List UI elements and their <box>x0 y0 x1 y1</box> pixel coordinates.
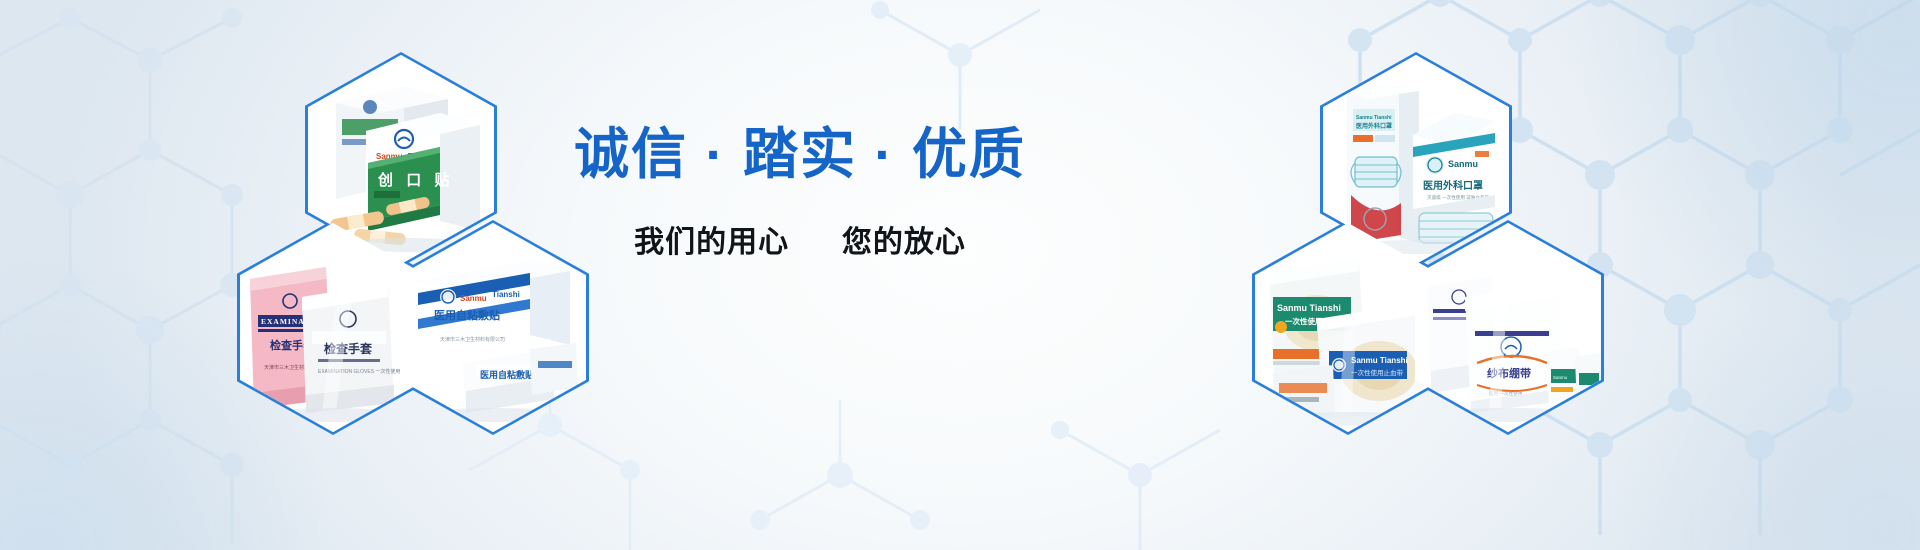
svg-text:医用外科口罩: 医用外科口罩 <box>1356 122 1392 130</box>
banner-headline: 诚信 · 踏实 · 优质 <box>560 122 1040 187</box>
svg-text:天津市三木卫生材料有限公司: 天津市三木卫生材料有限公司 <box>440 336 505 343</box>
svg-text:Sanmu: Sanmu <box>460 294 487 303</box>
svg-text:医用外科口罩: 医用外科口罩 <box>1423 179 1483 192</box>
svg-text:Sanmu Tianshi: Sanmu Tianshi <box>1356 115 1392 121</box>
svg-text:一次性使用止血带: 一次性使用止血带 <box>1351 368 1404 377</box>
svg-text:Sanmu: Sanmu <box>1553 375 1568 380</box>
svg-text:医用自粘敷贴: 医用自粘敷贴 <box>480 369 534 381</box>
banner-text-block: 诚信 · 踏实 · 优质 我们的用心 您的放心 <box>560 122 1040 261</box>
subline-right: 您的放心 <box>842 226 966 259</box>
subline-left: 我们的用心 <box>634 226 789 259</box>
banner-subline: 我们的用心 您的放心 <box>560 217 1040 261</box>
svg-text:创 口 贴: 创 口 贴 <box>377 171 453 189</box>
svg-text:Tianshi: Tianshi <box>492 290 520 299</box>
svg-text:医用自粘敷贴: 医用自粘敷贴 <box>434 308 500 322</box>
promo-banner: Sanmu Tianshi 创 口 贴 <box>0 0 1920 550</box>
svg-text:Sanmu Tianshi: Sanmu Tianshi <box>1351 356 1408 365</box>
svg-text:Sanmu Tianshi: Sanmu Tianshi <box>1277 303 1341 313</box>
